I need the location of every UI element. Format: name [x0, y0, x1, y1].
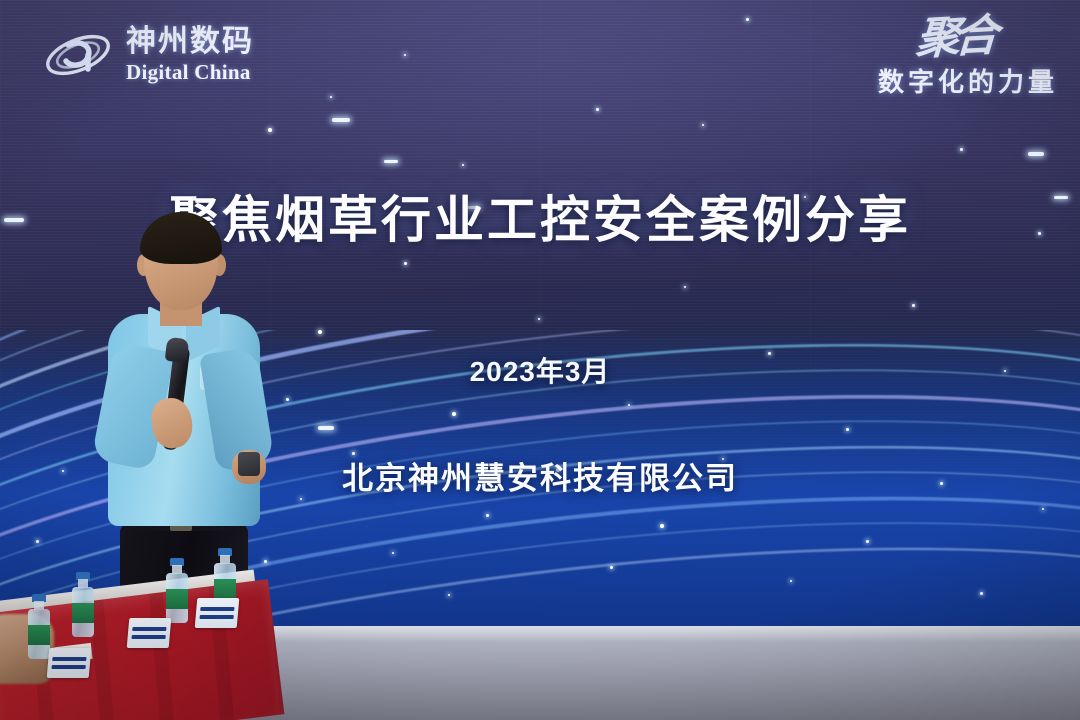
conference-photo-scene: 神州数码 Digital China 聚合 数字化的力量 聚焦烟草行业工控安全案…: [0, 0, 1080, 720]
name-card-text-bar: [52, 657, 86, 661]
particle-dot: [538, 318, 540, 320]
particle-dot: [330, 96, 332, 98]
particle-dot: [628, 404, 630, 406]
juhe-calligraphy: 聚合: [915, 14, 994, 62]
name-card: [195, 598, 240, 628]
particle-dot: [36, 540, 39, 543]
particle-dot: [684, 286, 686, 288]
digital-china-swirl-icon: [42, 25, 114, 85]
particle-dot: [486, 514, 489, 517]
bottle-label: [72, 603, 94, 623]
particle-dot: [448, 594, 450, 596]
particle-dot: [912, 304, 915, 307]
particle-dot: [462, 164, 464, 166]
particle-dot: [1042, 508, 1044, 510]
presentation-clicker: [238, 452, 260, 476]
particle-dot: [960, 148, 963, 151]
microphone-capsule: [165, 337, 190, 364]
name-card: [47, 648, 92, 678]
name-card-text-bar: [131, 635, 165, 639]
name-card-text-bar: [51, 665, 85, 669]
name-card-text-bar: [132, 627, 166, 631]
name-card: [127, 618, 172, 648]
particle-dot: [452, 412, 456, 416]
particle-dot: [318, 330, 322, 334]
digital-china-logo: 神州数码 Digital China: [42, 18, 302, 92]
particle-dot: [300, 498, 302, 500]
particle-streak: [1028, 152, 1044, 156]
particle-dot: [268, 128, 272, 132]
particle-streak: [318, 426, 334, 430]
particle-dot: [846, 428, 849, 431]
particle-dot: [404, 262, 407, 265]
presenter-hair: [140, 212, 222, 264]
particle-dot: [596, 108, 599, 111]
particle-dot: [286, 398, 289, 401]
particle-dot: [610, 566, 613, 569]
name-card-text-bar: [200, 607, 234, 611]
particle-dot: [702, 124, 704, 126]
particle-dot: [980, 592, 983, 595]
particle-dot: [660, 524, 664, 528]
particle-streak: [384, 160, 398, 163]
bottle-label: [28, 625, 50, 645]
particle-dot: [790, 580, 792, 582]
logo-english-name: Digital China: [126, 62, 254, 83]
logo-chinese-name: 神州数码: [126, 27, 254, 57]
digital-china-wordmark: 神州数码 Digital China: [126, 27, 254, 83]
particle-dot: [392, 552, 394, 554]
juhe-event-logo: 聚合 数字化的力量: [808, 16, 1058, 112]
name-card-text-bar: [199, 615, 233, 619]
bottle-label: [214, 579, 236, 599]
bottle-label: [166, 589, 188, 609]
particle-dot: [746, 18, 749, 21]
juhe-subtitle: 数字化的力量: [878, 62, 1058, 99]
particle-streak: [332, 118, 350, 122]
particle-dot: [404, 54, 406, 56]
particle-dot: [866, 540, 869, 543]
